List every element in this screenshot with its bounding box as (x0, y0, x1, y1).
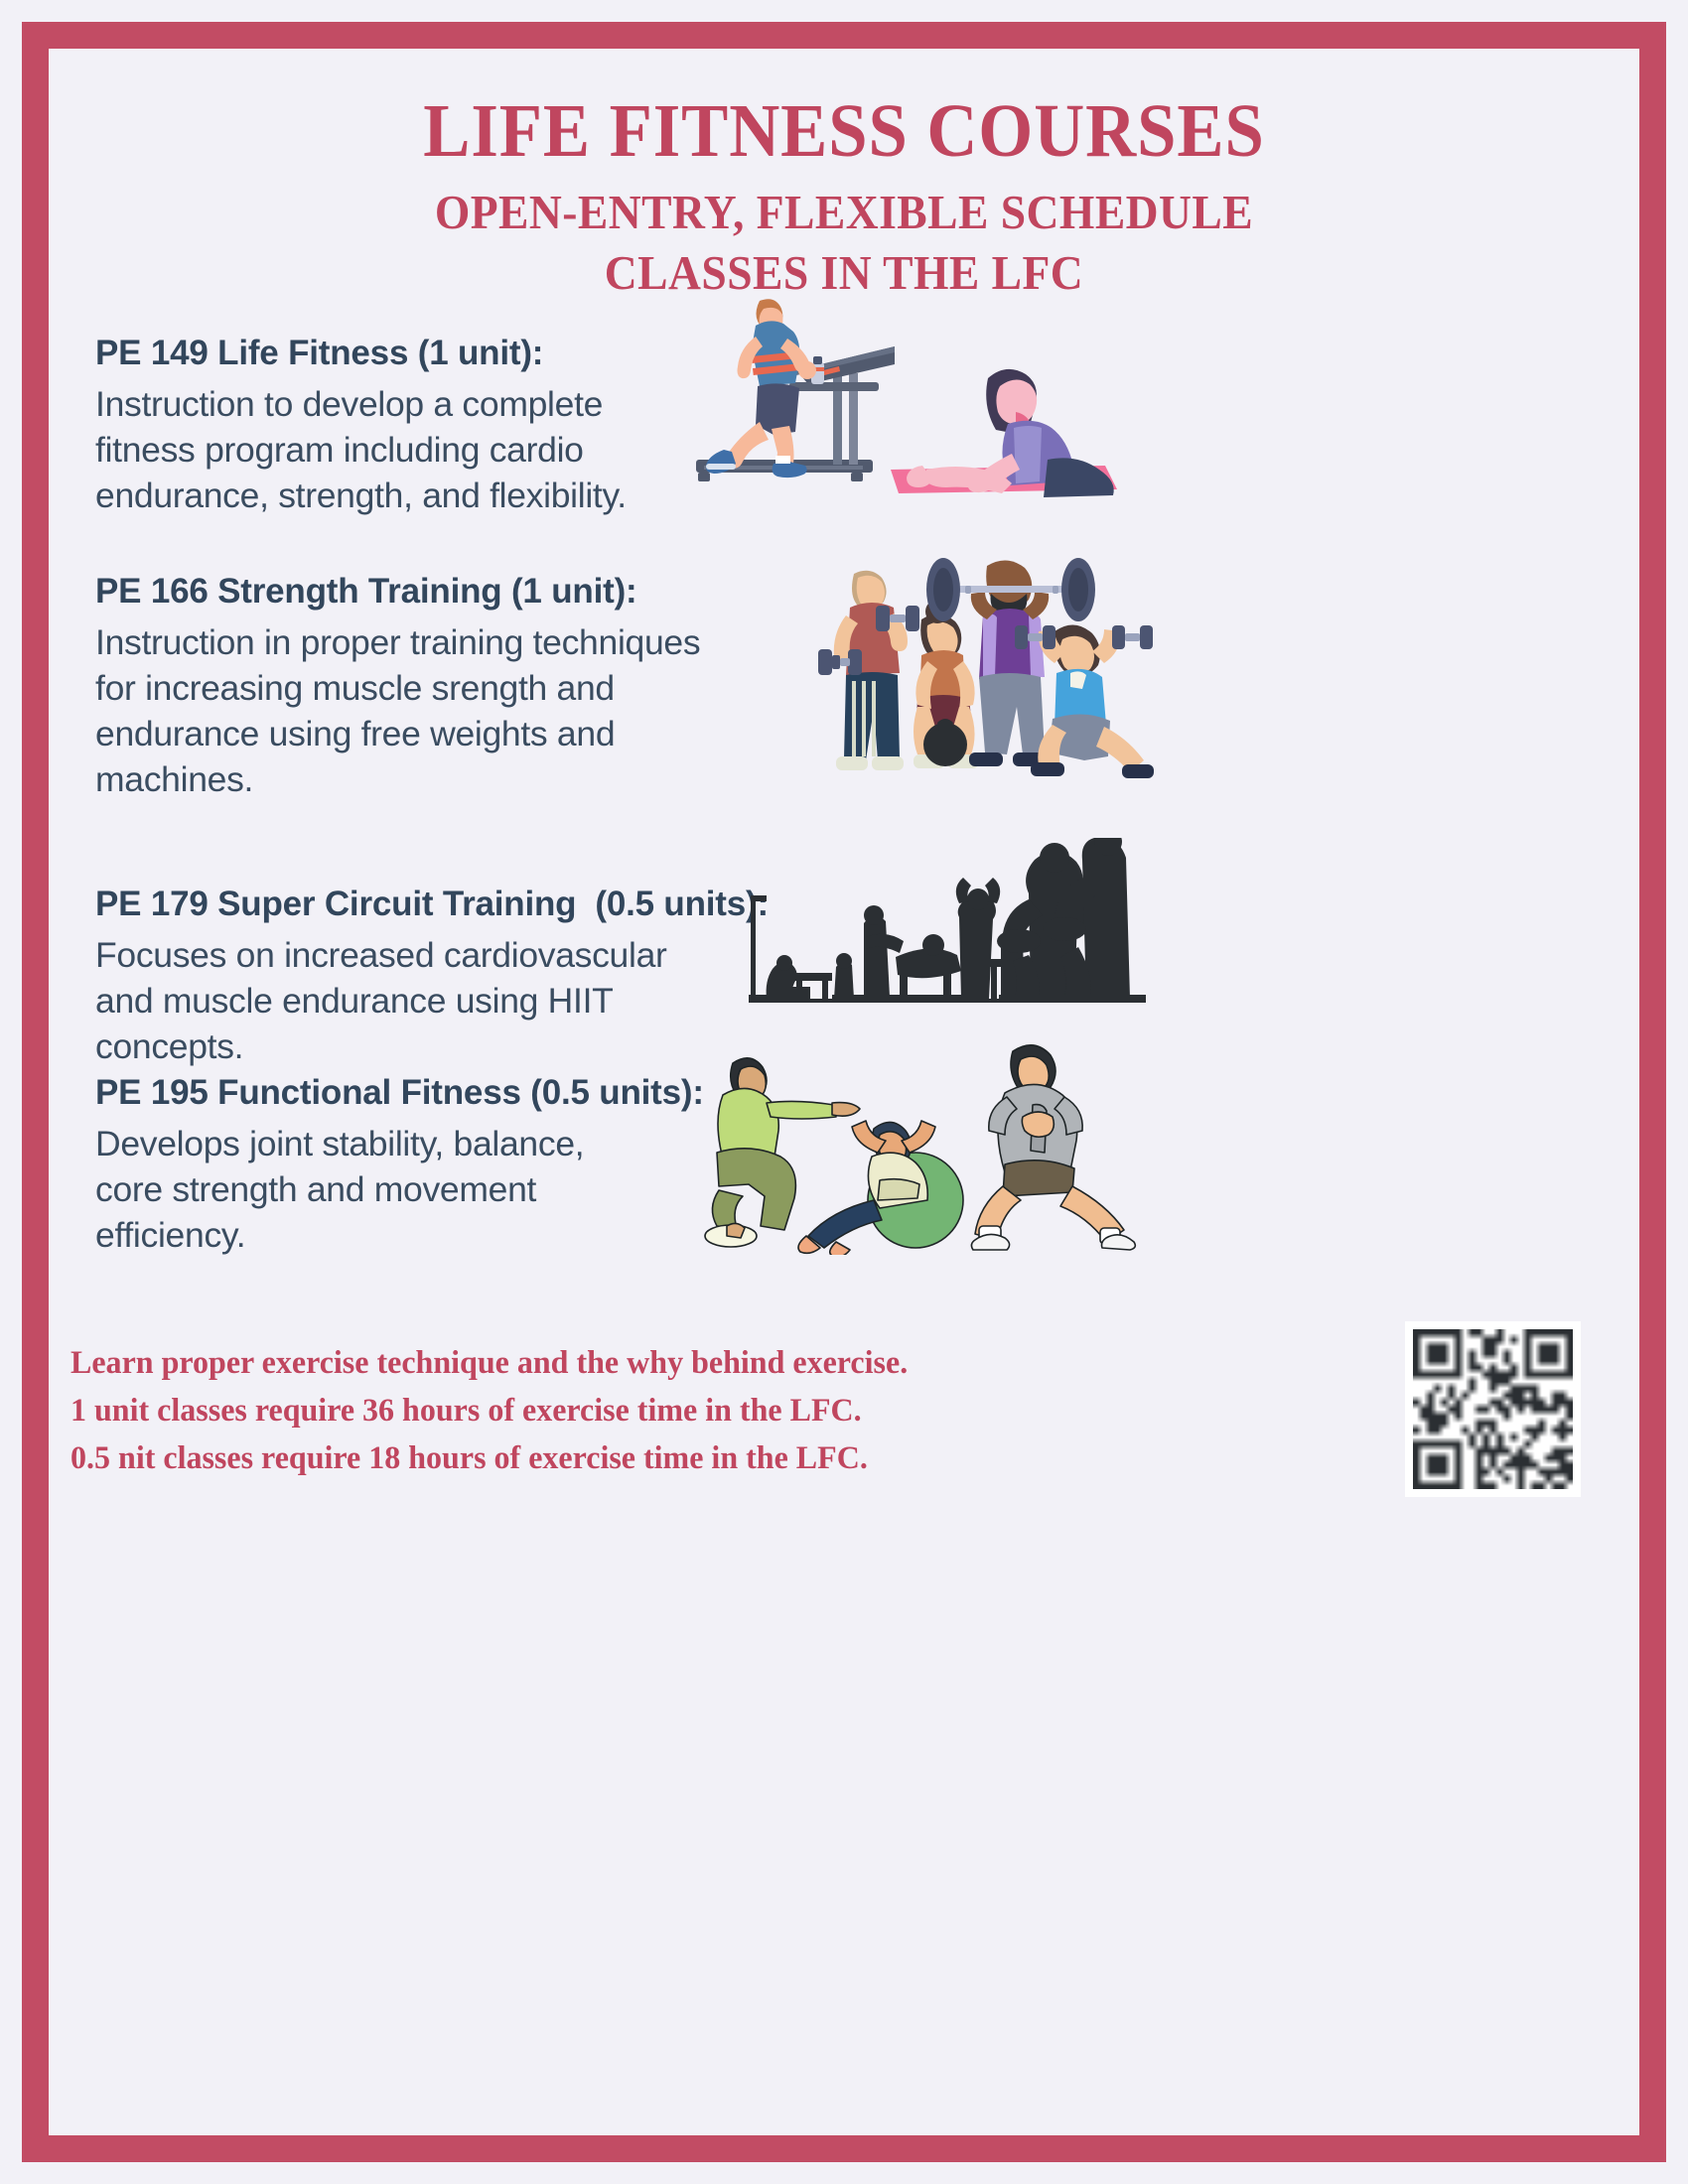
gym-silhouette-group (749, 838, 1146, 1003)
weightlifter-left-figure (818, 571, 919, 770)
illustration-treadmill-runner-and-stretching-woman (684, 279, 1131, 502)
illustration-gym-crowd-silhouette (749, 838, 1146, 1007)
illustration-four-people-lifting-weights (818, 550, 1156, 788)
qr-code-image (1413, 1329, 1573, 1489)
page-title: LIFE FITNESS COURSES (104, 93, 1584, 169)
page-subtitle-1: OPEN-ENTRY, FLEXIBLE SCHEDULE (104, 183, 1584, 243)
stability-ball-woman-figure (798, 1121, 963, 1255)
kettlebell-woman-figure (914, 600, 979, 768)
poster-title-block: LIFE FITNESS COURSES OPEN-ENTRY, FLEXIBL… (49, 93, 1639, 304)
stretching-woman-figure (907, 369, 1114, 497)
illustration-squat-stability-ball-and-lunge (689, 1041, 1146, 1255)
poster-inner-area: LIFE FITNESS COURSES OPEN-ENTRY, FLEXIBL… (49, 49, 1639, 2135)
lunging-man-figure (971, 1045, 1135, 1250)
poster: LIFE FITNESS COURSES OPEN-ENTRY, FLEXIBL… (0, 0, 1688, 2184)
footer-note: Learn proper exercise technique and the … (70, 1339, 995, 1483)
qr-code[interactable] (1405, 1321, 1581, 1497)
